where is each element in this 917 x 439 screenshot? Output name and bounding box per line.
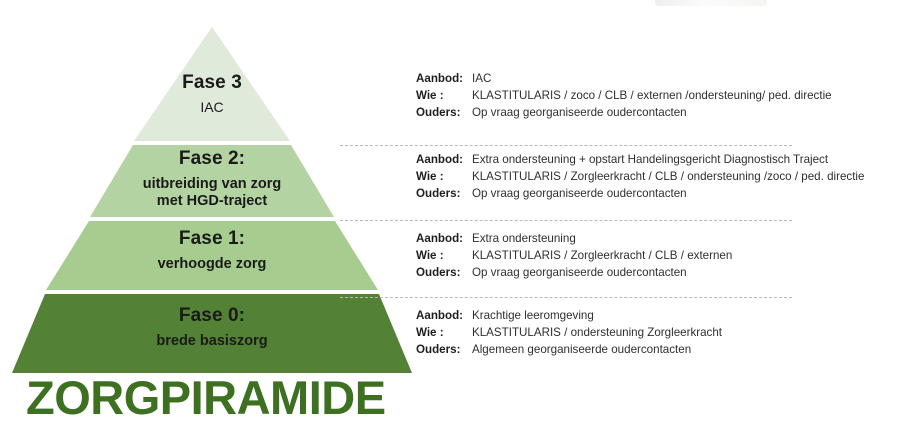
- label-ouders: Ouders:: [416, 264, 472, 281]
- label-ouders: Ouders:: [416, 185, 472, 202]
- info-block-fase-1: Aanbod: Extra ondersteuning Wie : KLASTI…: [416, 230, 732, 281]
- label-aanbod: Aanbod:: [416, 230, 472, 247]
- label-wie: Wie :: [416, 247, 472, 264]
- value-wie: KLASTITULARIS / zoco / CLB / externen /o…: [472, 87, 832, 104]
- info-row-aanbod: Aanbod: Krachtige leeromgeving: [416, 307, 722, 324]
- value-aanbod: Extra ondersteuning: [472, 230, 576, 247]
- value-wie: KLASTITULARIS / Zorgleerkracht / CLB / o…: [472, 168, 864, 185]
- value-wie: KLASTITULARIS / ondersteuning Zorgleerkr…: [472, 324, 722, 341]
- value-ouders: Op vraag georganiseerde oudercontacten: [472, 185, 687, 202]
- info-row-ouders: Ouders: Op vraag georganiseerde oudercon…: [416, 264, 732, 281]
- label-aanbod: Aanbod:: [416, 151, 472, 168]
- value-wie: KLASTITULARIS / Zorgleerkracht / CLB / e…: [472, 247, 732, 264]
- label-wie: Wie :: [416, 168, 472, 185]
- label-aanbod: Aanbod:: [416, 307, 472, 324]
- value-aanbod: Krachtige leeromgeving: [472, 307, 594, 324]
- value-aanbod: IAC: [472, 70, 491, 87]
- value-ouders: Op vraag georganiseerde oudercontacten: [472, 264, 687, 281]
- info-row-wie: Wie : KLASTITULARIS / Zorgleerkracht / C…: [416, 247, 732, 264]
- separator-line-2: [340, 220, 792, 221]
- info-row-aanbod: Aanbod: Extra ondersteuning: [416, 230, 732, 247]
- info-row-ouders: Ouders: Op vraag georganiseerde oudercon…: [416, 185, 864, 202]
- label-wie: Wie :: [416, 87, 472, 104]
- label-wie: Wie :: [416, 324, 472, 341]
- label-aanbod: Aanbod:: [416, 70, 472, 87]
- separator-line-1: [340, 145, 792, 146]
- info-block-fase-3: Aanbod: IAC Wie : KLASTITULARIS / zoco /…: [416, 70, 832, 121]
- info-row-wie: Wie : KLASTITULARIS / zoco / CLB / exter…: [416, 87, 832, 104]
- info-row-ouders: Ouders: Algemeen georganiseerde oudercon…: [416, 341, 722, 358]
- info-block-fase-2: Aanbod: Extra ondersteuning + opstart Ha…: [416, 151, 864, 202]
- label-ouders: Ouders:: [416, 104, 472, 121]
- separator-line-3: [340, 297, 792, 298]
- info-row-aanbod: Aanbod: IAC: [416, 70, 832, 87]
- info-row-ouders: Ouders: Op vraag georganiseerde oudercon…: [416, 104, 832, 121]
- info-row-aanbod: Aanbod: Extra ondersteuning + opstart Ha…: [416, 151, 864, 168]
- zorgpiramide-diagram: Fase 3 IAC Fase 2: uitbreiding van zorg …: [0, 0, 917, 439]
- value-aanbod: Extra ondersteuning + opstart Handelings…: [472, 151, 828, 168]
- page-title: ZORGPIRAMIDE: [26, 374, 386, 421]
- label-ouders: Ouders:: [416, 341, 472, 358]
- info-block-fase-0: Aanbod: Krachtige leeromgeving Wie : KLA…: [416, 307, 722, 358]
- pyramid-tier-2-shape: [90, 145, 334, 217]
- value-ouders: Algemeen georganiseerde oudercontacten: [472, 341, 691, 358]
- info-row-wie: Wie : KLASTITULARIS / ondersteuning Zorg…: [416, 324, 722, 341]
- pyramid-tier-3-shape: [134, 27, 290, 141]
- info-row-wie: Wie : KLASTITULARIS / Zorgleerkracht / C…: [416, 168, 864, 185]
- pyramid-tier-1-shape: [46, 221, 378, 290]
- value-ouders: Op vraag georganiseerde oudercontacten: [472, 104, 687, 121]
- pyramid-tier-0-shape: [12, 294, 412, 373]
